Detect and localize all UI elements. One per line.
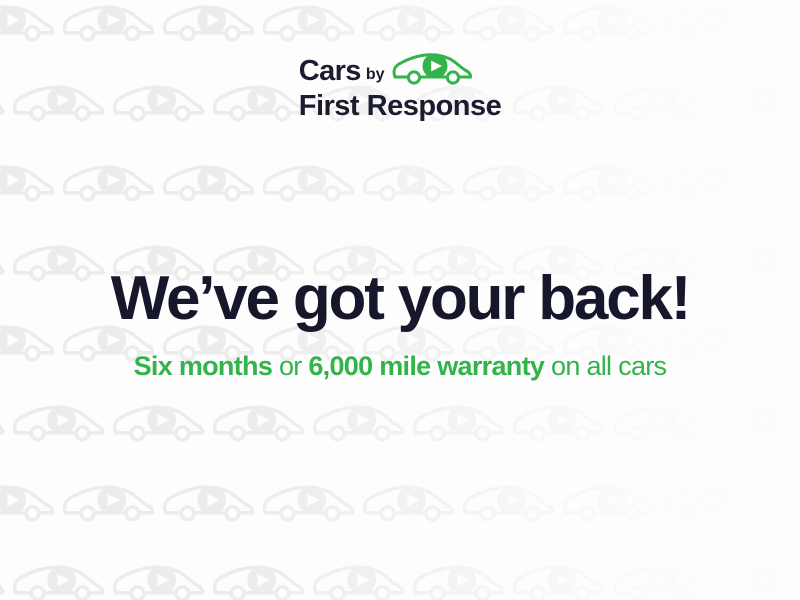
car-play-icon <box>390 52 474 90</box>
logo-by-text: by <box>366 67 385 83</box>
subheading-term-mileage: 6,000 mile warranty <box>308 351 544 381</box>
brand-logo[interactable]: Cars by <box>0 52 800 121</box>
hero-subheading: Six months or 6,000 mile warranty on all… <box>0 350 800 382</box>
hero-headline: We’ve got your back! <box>0 266 800 331</box>
subheading-term-months: Six months <box>134 351 273 381</box>
logo-first-response-text: First Response <box>299 92 502 121</box>
subheading-scope: on all cars <box>544 351 666 381</box>
subheading-conjunction: or <box>272 351 308 381</box>
logo-top-row: Cars by <box>299 52 474 90</box>
banner-content: Cars by <box>0 0 800 600</box>
logo-cars-text: Cars <box>299 57 361 86</box>
